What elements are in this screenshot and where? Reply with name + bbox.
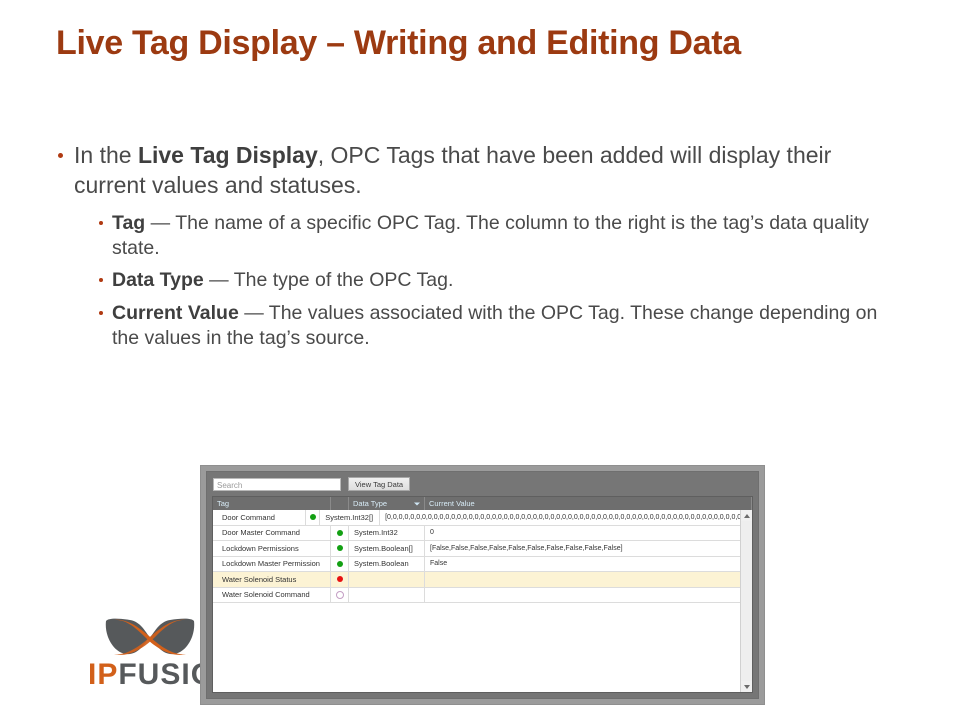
cell-data-type: System.Int32 (349, 526, 425, 541)
column-header-current-value[interactable]: Current Value (425, 497, 752, 510)
search-input[interactable]: Search (213, 478, 341, 491)
cell-tag: Water Solenoid Command (213, 588, 331, 603)
infinity-mark-icon (102, 616, 198, 658)
live-tag-display-window: Search View Tag Data Tag Data Type Curre… (206, 471, 759, 699)
quality-unknown-icon (336, 591, 344, 599)
cell-quality (331, 526, 349, 541)
quality-good-icon (337, 561, 343, 567)
logo-word-ip: IP (88, 658, 118, 691)
sub-bullet-current-value: Current Value — The values associated wi… (98, 301, 906, 352)
scroll-down-arrow-icon (744, 685, 750, 689)
cell-current-value[interactable]: [0,0,0,0,0,0,0,0,0,0,0,0,0,0,0,0,0,0,0,0… (380, 510, 740, 525)
view-tag-data-button[interactable]: View Tag Data (348, 477, 410, 491)
tag-grid-header: Tag Data Type Current Value (213, 497, 752, 510)
sort-descending-icon (414, 502, 420, 505)
sub-bullet-list: Tag — The name of a specific OPC Tag. Th… (56, 211, 906, 352)
table-row[interactable]: Door Command System.Int32[] [0,0,0,0,0,0… (213, 510, 740, 526)
quality-good-icon (337, 545, 343, 551)
sub-bullet-tag: Tag — The name of a specific OPC Tag. Th… (98, 211, 906, 262)
table-row[interactable]: Water Solenoid Command (213, 588, 740, 604)
main-bullet-bold: Live Tag Display (138, 142, 318, 168)
cell-current-value[interactable] (425, 572, 740, 587)
column-header-data-type-label: Data Type (353, 499, 387, 508)
sub-bullet-data-type-text: — The type of the OPC Tag. (204, 269, 454, 291)
table-row[interactable]: Door Master Command System.Int32 0 (213, 526, 740, 542)
sub-bullet-data-type-term: Data Type (112, 269, 204, 291)
table-row-selected[interactable]: Water Solenoid Status (213, 572, 740, 588)
cell-quality (331, 572, 349, 587)
cell-tag: Door Master Command (213, 526, 331, 541)
quality-good-icon (310, 514, 316, 520)
column-header-data-type[interactable]: Data Type (349, 497, 425, 510)
sub-bullet-current-value-term: Current Value (112, 302, 239, 324)
cell-data-type (349, 588, 425, 603)
cell-current-value[interactable] (425, 588, 740, 603)
slide-body: In the Live Tag Display, OPC Tags that h… (56, 140, 906, 358)
sub-bullet-tag-text: — The name of a specific OPC Tag. The co… (112, 212, 869, 259)
cell-data-type: System.Boolean[] (349, 541, 425, 556)
cell-current-value[interactable]: [False,False,False,False,False,False,Fal… (425, 541, 740, 556)
quality-bad-icon (337, 576, 343, 582)
cell-tag: Door Command (213, 510, 306, 525)
cell-data-type (349, 572, 425, 587)
app-toolbar: Search View Tag Data (207, 472, 758, 496)
cell-quality (331, 541, 349, 556)
cell-tag: Lockdown Permissions (213, 541, 331, 556)
cell-quality (331, 588, 349, 603)
scroll-down-button[interactable] (741, 681, 752, 692)
sub-bullet-data-type: Data Type — The type of the OPC Tag. (98, 268, 906, 293)
cell-current-value[interactable]: 0 (425, 526, 740, 541)
column-header-quality[interactable] (331, 497, 349, 510)
table-empty-area (213, 603, 740, 692)
cell-tag: Lockdown Master Permission (213, 557, 331, 572)
sub-bullet-tag-term: Tag (112, 212, 145, 234)
scroll-up-button[interactable] (741, 510, 752, 521)
cell-data-type: System.Int32[] (320, 510, 380, 525)
tag-grid-rows: Door Command System.Int32[] [0,0,0,0,0,0… (213, 510, 740, 692)
main-bullet: In the Live Tag Display, OPC Tags that h… (56, 140, 906, 201)
tag-grid: Tag Data Type Current Value Door Command… (212, 496, 753, 693)
scroll-up-arrow-icon (744, 514, 750, 518)
cell-tag: Water Solenoid Status (213, 572, 331, 587)
app-screenshot-frame: Search View Tag Data Tag Data Type Curre… (200, 465, 765, 705)
table-row[interactable]: Lockdown Permissions System.Boolean[] [F… (213, 541, 740, 557)
cell-quality (331, 557, 349, 572)
vertical-scrollbar[interactable] (740, 510, 752, 692)
cell-data-type: System.Boolean (349, 557, 425, 572)
page-title: Live Tag Display – Writing and Editing D… (56, 24, 916, 63)
column-header-tag[interactable]: Tag (213, 497, 331, 510)
scrollbar-track[interactable] (741, 521, 752, 681)
quality-good-icon (337, 530, 343, 536)
main-bullet-pre: In the (74, 142, 138, 168)
cell-current-value[interactable]: False (425, 557, 740, 572)
cell-quality (306, 510, 320, 525)
table-row[interactable]: Lockdown Master Permission System.Boolea… (213, 557, 740, 573)
tag-grid-body-area: Door Command System.Int32[] [0,0,0,0,0,0… (213, 510, 752, 692)
